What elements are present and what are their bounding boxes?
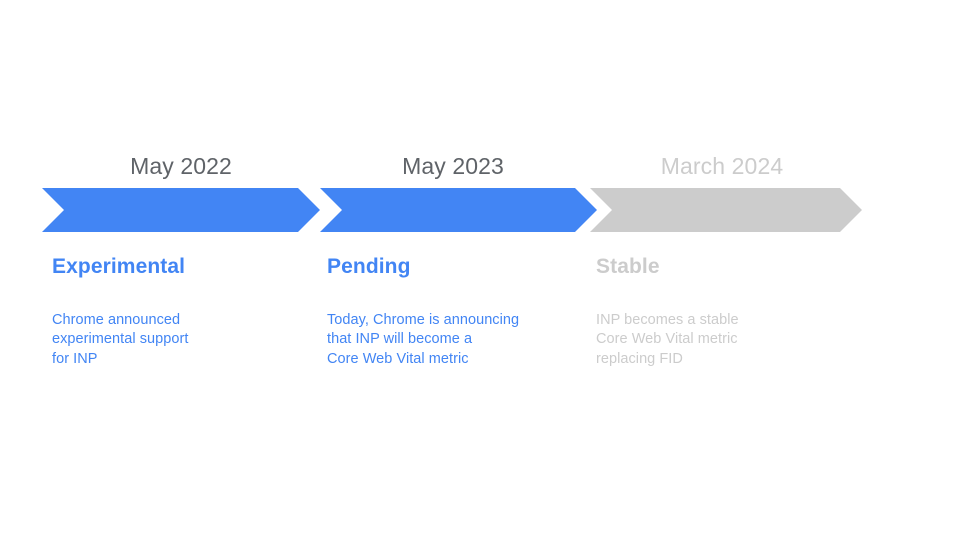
chevron-stage-experimental	[42, 188, 320, 232]
stage-desc-line: replacing FID	[596, 350, 739, 369]
stage-desc-line: Chrome announced	[52, 311, 188, 330]
stage-description-experimental: Chrome announced experimental support fo…	[52, 311, 188, 369]
stage-title-experimental: Experimental	[52, 254, 185, 280]
stage-title-pending: Pending	[327, 254, 411, 280]
stage-desc-line: Core Web Vital metric	[327, 350, 519, 369]
stage-description-stable: INP becomes a stable Core Web Vital metr…	[596, 311, 739, 369]
inp-timeline-diagram: May 2022 Experimental Chrome announced e…	[0, 0, 960, 540]
stage-desc-line: that INP will become a	[327, 330, 519, 349]
stage-desc-line: experimental support	[52, 330, 188, 349]
stage-date-may-2023: May 2023	[313, 152, 593, 180]
stage-desc-line: Today, Chrome is announcing	[327, 311, 519, 330]
chevron-stage-pending	[320, 188, 597, 232]
stage-description-pending: Today, Chrome is announcing that INP wil…	[327, 311, 519, 369]
stage-desc-line: INP becomes a stable	[596, 311, 739, 330]
stage-date-may-2022: May 2022	[41, 152, 321, 180]
chevron-stage-stable	[590, 188, 862, 232]
stage-date-march-2024: March 2024	[582, 152, 862, 180]
stage-desc-line: Core Web Vital metric	[596, 330, 739, 349]
stage-desc-line: for INP	[52, 350, 188, 369]
stage-title-stable: Stable	[596, 254, 660, 280]
